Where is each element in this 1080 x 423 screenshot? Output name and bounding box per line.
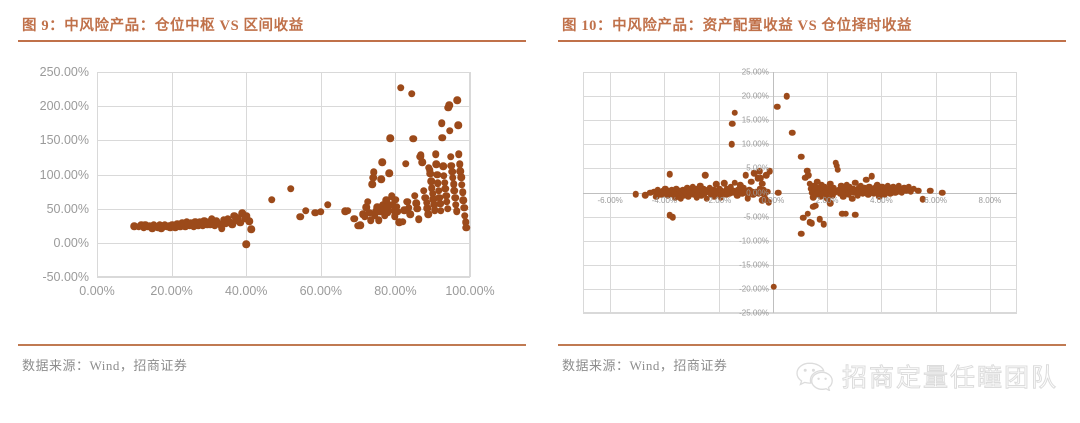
x-axis-tick-label: 100.00% — [445, 284, 494, 298]
scatter-point — [379, 158, 387, 166]
scatter-point — [454, 96, 462, 104]
x-axis-tick-label: 2.00% — [816, 196, 839, 205]
scatter-point — [457, 173, 465, 181]
scatter-point — [821, 221, 828, 228]
figure-9-panel: 图 9：中风险产品：仓位中枢 VS 区间收益 -50.00%0.00%50.00… — [0, 0, 540, 423]
y-axis-tick-label: 5.00% — [746, 164, 769, 173]
scatter-point — [455, 150, 463, 158]
y-axis-tick-label: -5.00% — [744, 212, 769, 221]
y-axis-tick-label: -25.00% — [739, 309, 769, 318]
scatter-point — [410, 135, 418, 143]
gridline-horizontal — [97, 72, 470, 73]
scatter-point — [459, 189, 467, 197]
figure-9-title: 图 9：中风险产品：仓位中枢 VS 区间收益 — [22, 14, 524, 35]
scatter-point — [411, 192, 419, 200]
scatter-point — [789, 129, 796, 136]
gridline-horizontal — [583, 313, 1017, 314]
gridline-horizontal — [97, 277, 470, 278]
x-axis-tick-label: 60.00% — [300, 284, 342, 298]
figure-9-source: 数据来源：Wind，招商证券 — [22, 355, 187, 374]
scatter-point — [633, 191, 640, 198]
gridline-horizontal — [583, 144, 1017, 145]
gridline-horizontal — [97, 243, 470, 244]
scatter-point — [245, 217, 253, 225]
y-axis-tick-label: 0.00% — [54, 236, 89, 250]
y-axis-tick-label: -15.00% — [739, 260, 769, 269]
figure-9-footer-rule — [18, 344, 526, 346]
scatter-point — [447, 153, 455, 161]
x-axis-tick-label: 40.00% — [225, 284, 267, 298]
scatter-point — [268, 196, 276, 204]
scatter-point — [784, 93, 791, 100]
scatter-point — [669, 214, 676, 221]
x-axis-tick-label: -6.00% — [597, 196, 622, 205]
scatter-point — [702, 172, 709, 179]
scatter-point — [408, 90, 416, 98]
scatter-point — [385, 169, 393, 177]
scatter-point — [667, 171, 674, 178]
scatter-point — [915, 187, 922, 194]
scatter-point — [344, 207, 352, 215]
scatter-point — [732, 110, 739, 117]
scatter-point — [432, 150, 440, 158]
y-axis-tick-label: 25.00% — [742, 68, 769, 77]
scatter-point — [446, 127, 454, 135]
scatter-point — [453, 208, 461, 216]
scatter-point — [458, 181, 466, 189]
figure-10-title: 图 10：中风险产品：资产配置收益 VS 仓位择时收益 — [562, 14, 1064, 35]
scatter-point — [798, 154, 805, 161]
scatter-point — [324, 201, 332, 209]
figure-9-title-rule — [18, 40, 526, 42]
scatter-point — [413, 205, 421, 213]
watermark-text: 招商定量任瞳团队 — [842, 358, 1058, 394]
chart1-plot-area: -50.00%0.00%50.00%100.00%150.00%200.00%2… — [97, 72, 470, 277]
scatter-point — [771, 284, 778, 291]
gridline-vertical — [97, 72, 98, 277]
y-axis-tick-label: 10.00% — [742, 140, 769, 149]
gridline-horizontal — [97, 175, 470, 176]
gridline-horizontal — [583, 241, 1017, 242]
gridline-horizontal — [583, 72, 1017, 73]
figure-9-scatter-chart: -50.00%0.00%50.00%100.00%150.00%200.00%2… — [97, 72, 470, 277]
scatter-point — [287, 185, 295, 193]
gridline-vertical — [321, 72, 322, 277]
figure-10-scatter-chart: -25.00%-20.00%-15.00%-10.00%-5.00%0.00%5… — [583, 72, 1017, 313]
scatter-point — [444, 205, 452, 213]
watermark: 招商定量任瞳团队 — [795, 358, 1058, 394]
gridline-horizontal — [583, 96, 1017, 97]
scatter-point — [302, 207, 310, 215]
x-axis-tick-label: 4.00% — [870, 196, 893, 205]
scatter-point — [748, 179, 755, 186]
scatter-point — [370, 169, 378, 177]
x-axis-tick-label: 20.00% — [150, 284, 192, 298]
scatter-point — [463, 224, 471, 232]
scatter-point — [357, 222, 365, 230]
chart2-plot-area: -25.00%-20.00%-15.00%-10.00%-5.00%0.00%5… — [583, 72, 1017, 313]
scatter-point — [774, 103, 781, 110]
scatter-point — [242, 240, 250, 248]
scatter-point — [415, 216, 423, 224]
y-axis-tick-label: 100.00% — [40, 168, 89, 182]
scatter-point — [800, 214, 807, 221]
x-axis-tick-label: 6.00% — [924, 196, 947, 205]
gridline-horizontal — [97, 106, 470, 107]
gridline-vertical — [395, 72, 396, 277]
scatter-point — [397, 84, 405, 92]
scatter-point — [399, 218, 407, 226]
y-axis-tick-label: 200.00% — [40, 99, 89, 113]
scatter-point — [317, 208, 325, 216]
scatter-point — [377, 176, 385, 184]
scatter-point — [402, 160, 410, 168]
scatter-point — [728, 141, 735, 148]
scatter-point — [809, 220, 816, 227]
y-axis-tick-label: -50.00% — [42, 270, 89, 284]
scatter-point — [445, 102, 453, 110]
scatter-point — [439, 163, 447, 171]
scatter-point — [407, 210, 415, 218]
y-axis-tick-label: -20.00% — [739, 284, 769, 293]
x-axis-tick-label: 0.00% — [79, 284, 114, 298]
scatter-point — [460, 204, 468, 212]
figure-10-footer-rule — [558, 344, 1066, 346]
figure-10-source: 数据来源：Wind，招商证券 — [562, 355, 727, 374]
x-axis-tick-label: 0.00% — [762, 196, 785, 205]
scatter-point — [852, 211, 859, 218]
scatter-point — [364, 198, 372, 206]
gridline-vertical — [172, 72, 173, 277]
scatter-point — [729, 120, 736, 127]
scatter-point — [438, 120, 446, 128]
y-axis-tick-label: 50.00% — [47, 202, 89, 216]
scatter-point — [835, 167, 842, 174]
scatter-point — [842, 210, 849, 217]
scatter-point — [868, 173, 875, 180]
scatter-point — [248, 225, 256, 233]
y-axis-tick-label: -10.00% — [739, 236, 769, 245]
x-axis-tick-label: 8.00% — [979, 196, 1002, 205]
scatter-point — [927, 187, 934, 194]
gridline-horizontal — [583, 120, 1017, 121]
y-axis-tick-label: 15.00% — [742, 116, 769, 125]
y-axis-tick-label: 150.00% — [40, 133, 89, 147]
gridline-horizontal — [583, 168, 1017, 169]
gridline-horizontal — [583, 289, 1017, 290]
y-axis-tick-label: 20.00% — [742, 92, 769, 101]
scatter-point — [798, 231, 805, 238]
scatter-point — [805, 172, 812, 179]
scatter-point — [439, 134, 447, 142]
gridline-horizontal — [583, 265, 1017, 266]
figure-10-title-rule — [558, 40, 1066, 42]
wechat-icon — [795, 361, 833, 391]
y-axis-tick-label: 250.00% — [40, 65, 89, 79]
x-axis-tick-label: 80.00% — [374, 284, 416, 298]
x-axis-tick-label: -4.00% — [652, 196, 677, 205]
scatter-point — [386, 135, 394, 143]
x-axis-tick-label: -2.00% — [706, 196, 731, 205]
gridline-vertical — [470, 72, 471, 277]
scatter-point — [454, 122, 462, 130]
scatter-point — [460, 197, 468, 205]
